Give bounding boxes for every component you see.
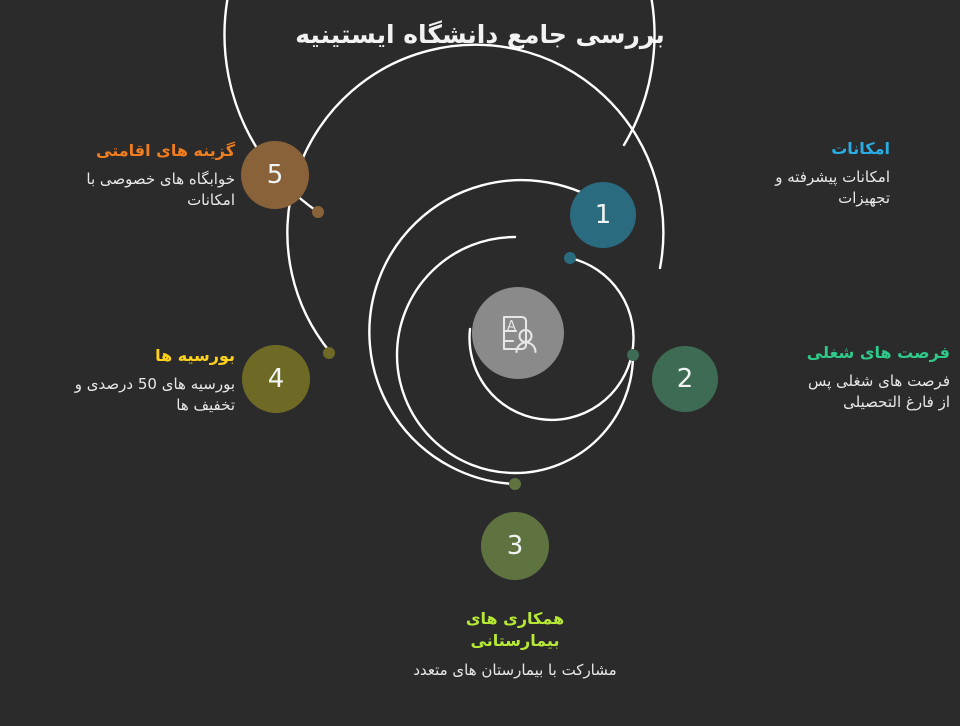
id-card-person-icon: A xyxy=(492,307,544,359)
callout-3-heading: همکاری های بیمارستانی xyxy=(430,608,600,651)
callout-3-description: مشارکت با بیمارستان های متعدد xyxy=(410,660,620,682)
callout-4: بورسیه ها بورسیه های 50 درصدی و تخفیف ها xyxy=(20,345,235,417)
bubble-number-4: 4 xyxy=(268,366,285,392)
icon-letter: A xyxy=(507,319,516,334)
callout-5-heading: گزینه های اقامتی xyxy=(20,140,235,162)
connector-dot-2 xyxy=(627,349,639,361)
bubble-3[interactable]: 3 xyxy=(481,512,549,580)
connector-dot-5 xyxy=(312,206,324,218)
bubble-number-2: 2 xyxy=(677,366,694,392)
bubble-number-5: 5 xyxy=(267,162,284,188)
bubble-number-1: 1 xyxy=(595,202,612,228)
callout-1: امکانات امکانات پیشرفته و تجهیزات xyxy=(660,138,890,210)
connector-dot-1 xyxy=(564,252,576,264)
infographic-canvas: بررسی جامع دانشگاه ایستینیه A xyxy=(0,0,960,726)
callout-1-description: امکانات پیشرفته و تجهیزات xyxy=(740,167,890,211)
callout-4-heading: بورسیه ها xyxy=(20,345,235,367)
center-hub: A xyxy=(472,287,564,379)
callout-1-heading: امکانات xyxy=(660,138,890,160)
callout-5-description: خوابگاه های خصوصی با امکانات xyxy=(55,169,235,213)
bubble-number-3: 3 xyxy=(507,533,524,559)
callout-2: فرصت های شغلی فرصت های شغلی پس از فارغ ا… xyxy=(720,342,950,414)
bubble-1[interactable]: 1 xyxy=(570,182,636,248)
callout-2-description: فرصت های شغلی پس از فارغ التحصیلی xyxy=(800,371,950,415)
callout-4-description: بورسیه های 50 درصدی و تخفیف ها xyxy=(55,374,235,418)
bubble-4[interactable]: 4 xyxy=(242,345,310,413)
connector-dot-4 xyxy=(323,347,335,359)
bubble-2[interactable]: 2 xyxy=(652,346,718,412)
connector-dot-3 xyxy=(509,478,521,490)
callout-3: همکاری های بیمارستانی مشارکت با بیمارستا… xyxy=(385,608,645,682)
callout-5: گزینه های اقامتی خوابگاه های خصوصی با ام… xyxy=(20,140,235,212)
callout-2-heading: فرصت های شغلی xyxy=(720,342,950,364)
bubble-5[interactable]: 5 xyxy=(241,141,309,209)
